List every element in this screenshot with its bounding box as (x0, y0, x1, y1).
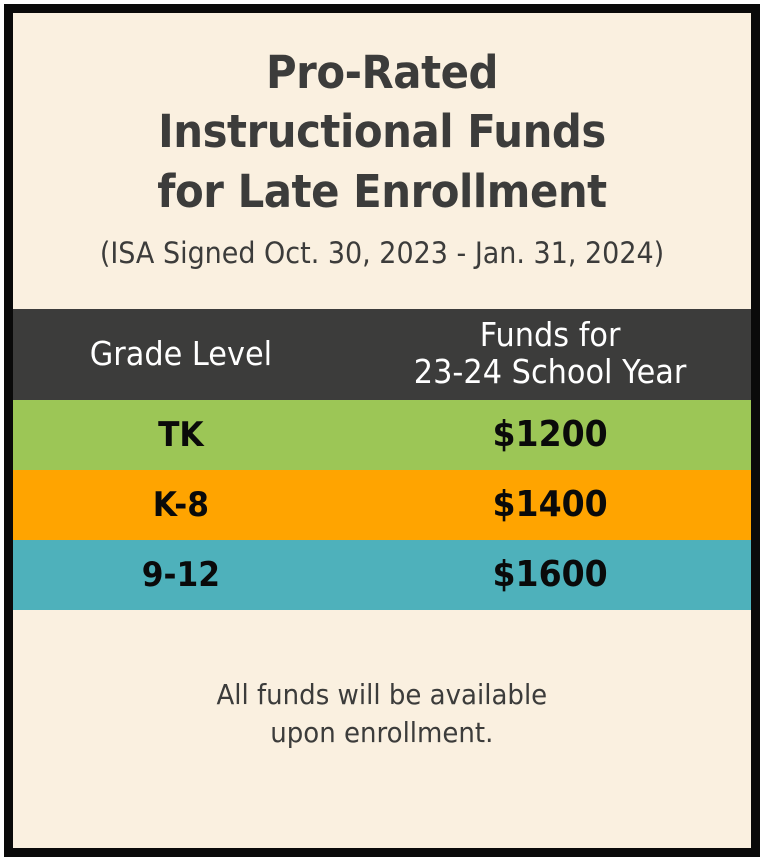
funds-value: $1200 (492, 414, 607, 455)
footer-text: All funds will be available upon enrollm… (217, 676, 548, 753)
title-block: Pro-Rated Instructional Funds for Late E… (13, 13, 751, 273)
footer-note: All funds will be available upon enrollm… (13, 610, 751, 848)
column-header-funds-line-2: 23-24 School Year (414, 354, 687, 391)
column-header-funds-line-1: Funds for (479, 317, 620, 354)
footer-line-2: upon enrollment. (217, 714, 548, 753)
page-title-line-2: Instructional Funds (39, 102, 725, 161)
funds-table: Grade Level Funds for 23-24 School Year … (13, 309, 751, 610)
grade-level-value: TK (158, 415, 204, 455)
table-row: K-8 $1400 (13, 470, 751, 540)
funds-value: $1600 (492, 554, 607, 595)
footer-line-1: All funds will be available (217, 676, 548, 715)
table-header-row: Grade Level Funds for 23-24 School Year (13, 309, 751, 400)
grade-level-cell: TK (26, 400, 335, 470)
grade-level-cell: 9-12 (26, 540, 335, 610)
grade-level-value: 9-12 (142, 555, 220, 595)
page-subtitle: (ISA Signed Oct. 30, 2023 - Jan. 31, 202… (39, 235, 725, 273)
funds-cell: $1200 (365, 400, 735, 470)
page-title-line-3: for Late Enrollment (39, 162, 725, 221)
grade-level-value: K-8 (153, 485, 209, 525)
flyer-card: Pro-Rated Instructional Funds for Late E… (4, 4, 760, 857)
grade-level-cell: K-8 (26, 470, 335, 540)
column-header-grade-level-label: Grade Level (90, 336, 272, 373)
column-header-funds: Funds for 23-24 School Year (365, 309, 735, 400)
funds-cell: $1600 (365, 540, 735, 610)
table-row: TK $1200 (13, 400, 751, 470)
table-row: 9-12 $1600 (13, 540, 751, 610)
funds-value: $1400 (492, 484, 607, 525)
column-header-grade-level: Grade Level (26, 309, 335, 400)
page-title-line-1: Pro-Rated (39, 43, 725, 102)
funds-cell: $1400 (365, 470, 735, 540)
